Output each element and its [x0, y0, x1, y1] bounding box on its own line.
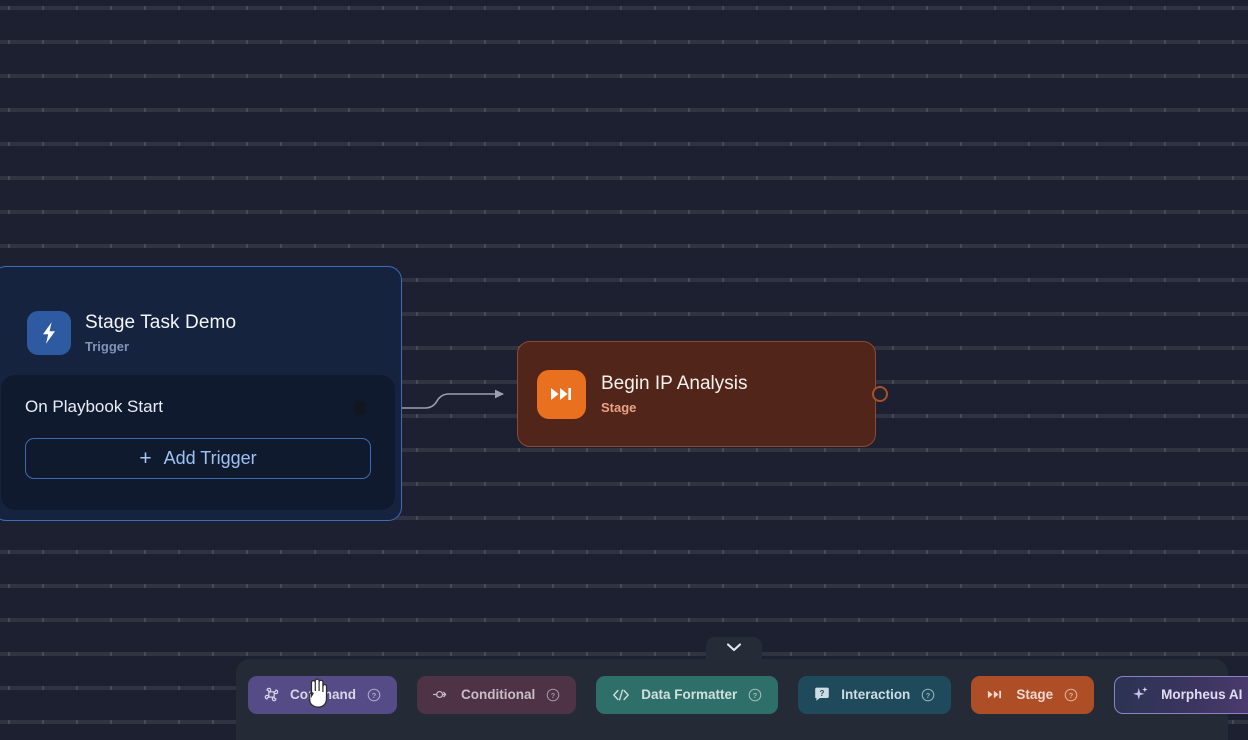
svg-text:?: ? — [1069, 690, 1074, 699]
command-icon — [264, 687, 279, 702]
question-circle-icon[interactable]: ? — [546, 688, 560, 702]
palette-item-command-label: Command — [290, 687, 356, 702]
toolbar-collapse-tab[interactable] — [706, 637, 762, 661]
question-circle-icon[interactable]: ? — [921, 688, 935, 702]
workflow-canvas[interactable]: Stage Task Demo Trigger On Playbook Star… — [0, 0, 1248, 740]
node-trigger-header: Stage Task Demo Trigger — [0, 267, 401, 375]
node-palette-toolbar[interactable]: Command ? Conditional ? — [236, 659, 1228, 740]
palette-item-stage-label: Stage — [1016, 687, 1053, 702]
svg-text:?: ? — [926, 690, 931, 699]
speech-bubble-question-icon: ? — [814, 687, 830, 702]
palette-item-stage[interactable]: Stage ? — [971, 676, 1094, 714]
trigger-output-port[interactable] — [353, 401, 367, 415]
palette-item-morpheus-ai-label: Morpheus AI — [1161, 687, 1242, 702]
add-trigger-label: Add Trigger — [164, 448, 257, 469]
svg-text:?: ? — [820, 689, 825, 698]
question-circle-icon[interactable]: ? — [1064, 688, 1078, 702]
question-circle-icon[interactable]: ? — [748, 688, 762, 702]
trigger-row-label: On Playbook Start — [25, 397, 371, 417]
node-stage-subtitle: Stage — [601, 400, 747, 415]
double-chevron-right-icon — [537, 370, 586, 419]
palette-item-data-formatter-label: Data Formatter — [641, 687, 737, 702]
node-stage[interactable]: Begin IP Analysis Stage — [517, 341, 876, 447]
plus-icon: + — [139, 448, 151, 469]
chevron-down-icon — [725, 641, 743, 653]
add-trigger-button[interactable]: + Add Trigger — [25, 438, 371, 479]
question-circle-icon[interactable]: ? — [367, 688, 381, 702]
palette-item-data-formatter[interactable]: Data Formatter ? — [596, 676, 778, 714]
node-trigger-subtitle: Trigger — [85, 339, 236, 354]
svg-text:?: ? — [372, 690, 377, 699]
palette-item-morpheus-ai[interactable]: Morpheus AI ? — [1114, 676, 1248, 714]
double-chevron-right-icon — [987, 689, 1005, 700]
palette-item-conditional[interactable]: Conditional ? — [417, 676, 576, 714]
node-trigger-title: Stage Task Demo — [85, 312, 236, 334]
palette-item-interaction[interactable]: ? Interaction ? — [798, 676, 951, 714]
branch-node-icon — [433, 688, 450, 701]
stage-output-port[interactable] — [872, 386, 888, 402]
svg-text:?: ? — [551, 690, 556, 699]
palette-item-conditional-label: Conditional — [461, 687, 535, 702]
palette-item-interaction-label: Interaction — [841, 687, 910, 702]
node-trigger-body: On Playbook Start + Add Trigger — [1, 375, 395, 510]
lightning-bolt-icon — [27, 311, 71, 355]
palette-item-command[interactable]: Command ? — [248, 676, 397, 714]
node-stage-title: Begin IP Analysis — [601, 373, 747, 395]
node-trigger[interactable]: Stage Task Demo Trigger On Playbook Star… — [0, 266, 402, 521]
code-brackets-icon — [612, 688, 630, 702]
svg-text:?: ? — [753, 690, 758, 699]
sparkle-icon — [1131, 685, 1150, 704]
